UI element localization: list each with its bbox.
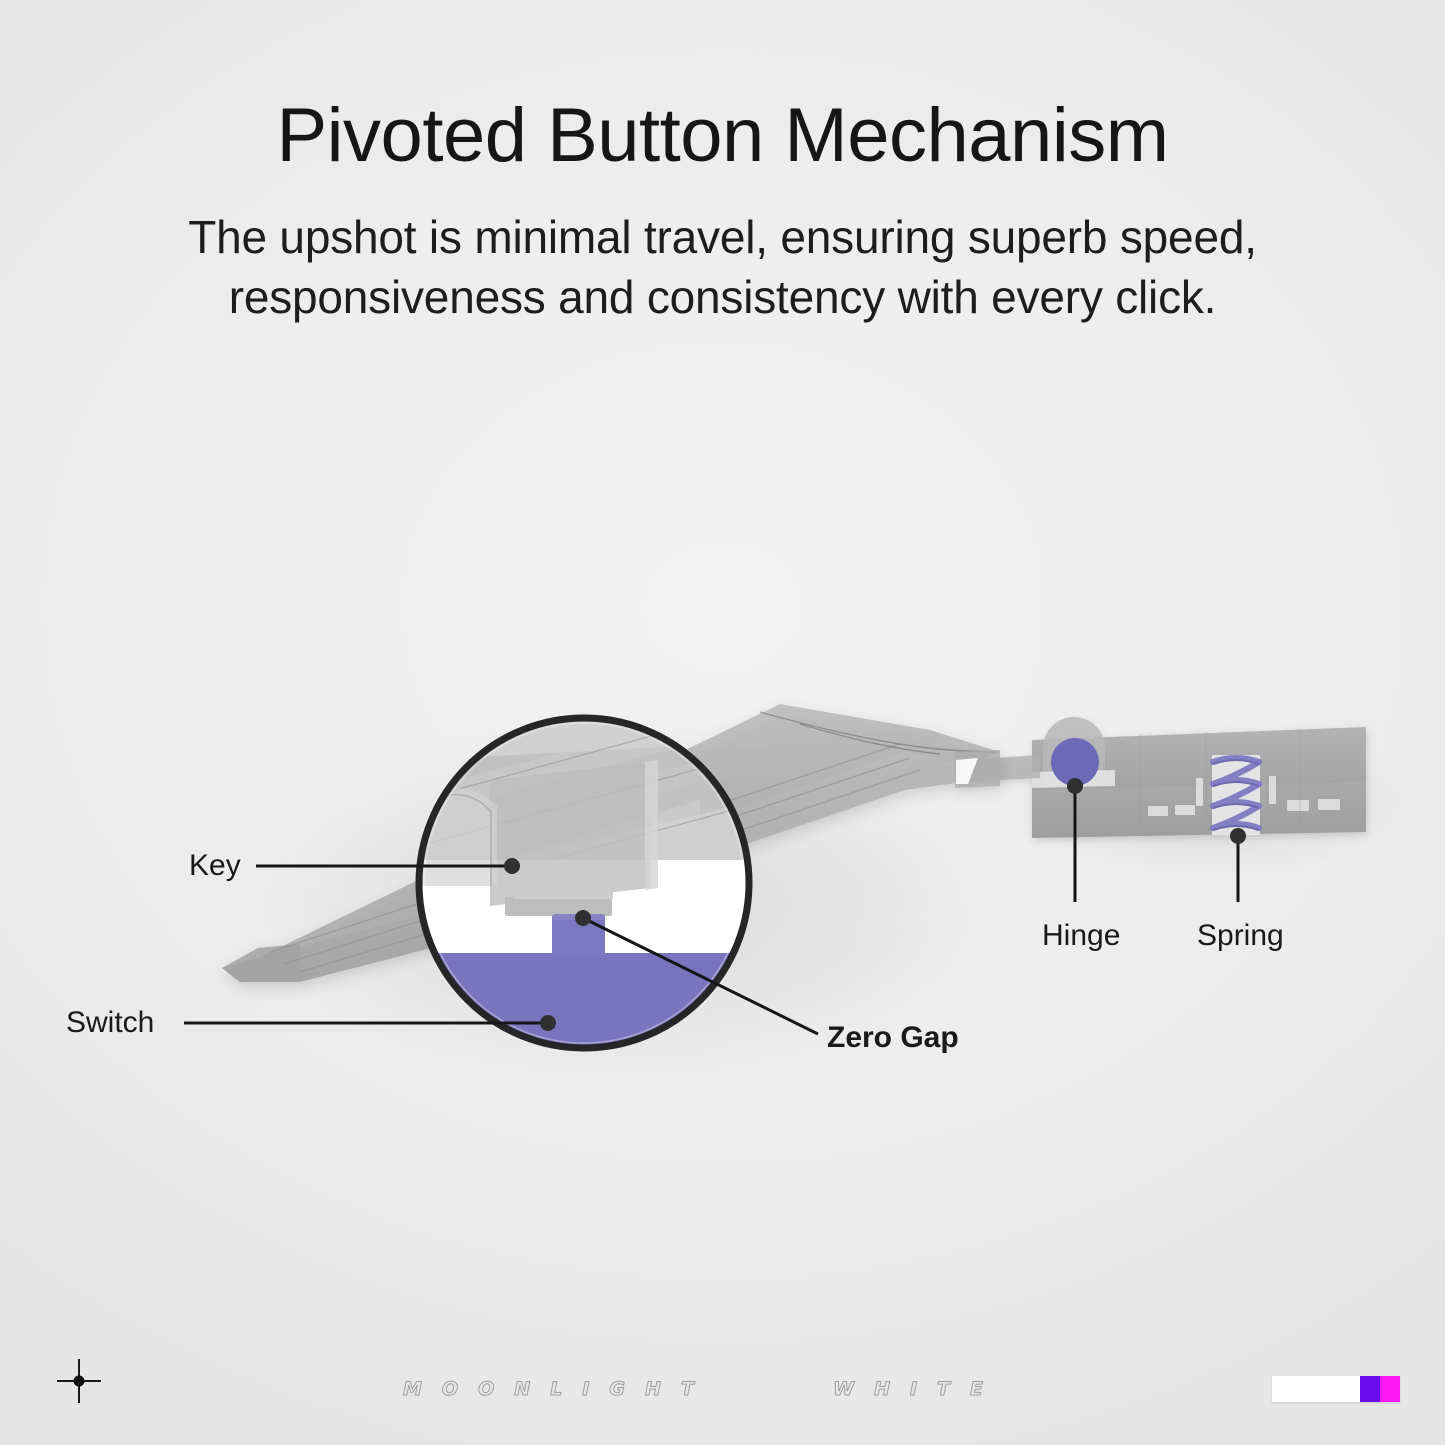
registration-crosshair-icon [55,1357,103,1405]
wordmark-char: M [403,1378,422,1400]
wordmark-char: O [478,1378,494,1400]
callout-label-switch: Switch [66,1008,154,1038]
wordmark-char: H [874,1378,890,1400]
dot-spring [1230,828,1246,844]
wordmark-word-moonlight: M O O N L I G H T [393,1378,704,1400]
product-infographic-page: Pivoted Button Mechanism The upshot is m… [0,0,1445,1445]
dot-hinge [1067,778,1083,794]
lens-tab-plate-top [513,890,613,899]
lens-stem-wall [490,762,651,906]
dot-switch [540,1015,556,1031]
wordmark-char: I [910,1378,917,1400]
wordmark-char: H [645,1378,661,1400]
callout-label-key: Key [189,851,241,881]
wordmark-char: N [514,1378,530,1400]
wordmark-char: I [582,1378,589,1400]
wordmark-char: E [970,1378,983,1400]
lens-stem-wall-edge [645,760,658,890]
wordmark-char: T [937,1378,950,1400]
wordmark-word-white: W H I T E [823,1378,993,1400]
color-registration-swatch [1272,1376,1400,1402]
wordmark-char: T [681,1378,694,1400]
footer-wordmark: M O O N L I G H T W H I T E [393,1374,993,1404]
wordmark-char: O [442,1378,458,1400]
swatch-white [1272,1376,1360,1402]
wordmark-char: L [550,1378,562,1400]
swatch-magenta [1380,1376,1400,1402]
wordmark-char: G [609,1378,625,1400]
dot-zero-gap [575,910,591,926]
callout-label-zero-gap: Zero Gap [827,1023,959,1053]
swatch-violet [1360,1376,1380,1402]
mechanism-diagram [0,0,1445,1445]
callout-label-hinge: Hinge [1042,921,1120,951]
wordmark-char: W [833,1378,854,1400]
lens-tab-plate [505,897,612,916]
callout-label-spring: Spring [1197,921,1284,951]
dot-key [504,858,520,874]
